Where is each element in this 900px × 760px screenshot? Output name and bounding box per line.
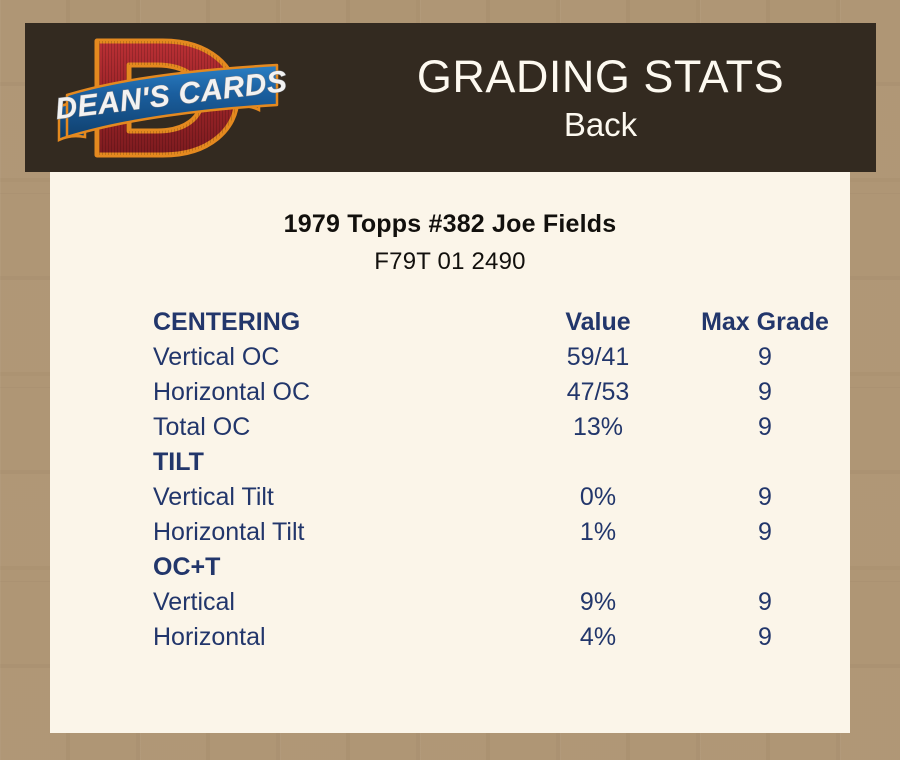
table-row: Horizontal4%9 [153,620,847,655]
stat-max-grade: 9 [683,585,847,620]
stat-value: 13% [513,410,683,445]
card-serial-number: F79T 01 2490 [50,248,850,276]
table-row: Vertical Tilt0%9 [153,480,847,515]
stat-label: Vertical OC [153,340,513,375]
column-header-centering: CENTERING [153,305,513,340]
table-section-row: OC+T [153,550,847,585]
stat-value [513,550,683,585]
stat-max-grade: 9 [683,410,847,445]
stat-value: 0% [513,480,683,515]
grading-stats-page: DEAN'S CARDS GRADING STATS Back 1979 Top… [0,0,900,760]
stat-max-grade: 9 [683,515,847,550]
table-row: Total OC13%9 [153,410,847,445]
stat-label: Horizontal Tilt [153,515,513,550]
table-section-row: TILT [153,445,847,480]
page-title: GRADING STATS [417,51,784,103]
stat-max-grade [683,445,847,480]
stat-value [513,445,683,480]
table-row: Horizontal OC47/539 [153,375,847,410]
grading-stats-body: CENTERINGValueMax GradeVertical OC59/419… [153,305,847,655]
stat-value: 4% [513,620,683,655]
stat-label: Vertical [153,585,513,620]
stat-label: Horizontal OC [153,375,513,410]
stat-label: Total OC [153,410,513,445]
table-row: Vertical9%9 [153,585,847,620]
table-row: Horizontal Tilt1%9 [153,515,847,550]
stat-label: Vertical Tilt [153,480,513,515]
section-label: OC+T [153,550,513,585]
table-row: Vertical OC59/419 [153,340,847,375]
stat-max-grade: 9 [683,480,847,515]
stat-max-grade [683,550,847,585]
deans-cards-logo[interactable]: DEAN'S CARDS [45,29,315,167]
card-heading: 1979 Topps #382 Joe Fields [50,210,850,239]
header-title-group: GRADING STATS Back [325,23,876,172]
content-panel: 1979 Topps #382 Joe Fields F79T 01 2490 … [50,172,850,733]
column-header-value: Value [513,305,683,340]
section-label: TILT [153,445,513,480]
grading-stats-table: CENTERINGValueMax GradeVertical OC59/419… [153,305,847,655]
stat-value: 1% [513,515,683,550]
stat-max-grade: 9 [683,620,847,655]
stat-max-grade: 9 [683,375,847,410]
stat-label: Horizontal [153,620,513,655]
stat-value: 9% [513,585,683,620]
stat-value: 47/53 [513,375,683,410]
page-subtitle: Back [564,105,637,145]
header-bar: DEAN'S CARDS GRADING STATS Back [25,23,876,172]
table-header-row: CENTERINGValueMax Grade [153,305,847,340]
column-header-max-grade: Max Grade [683,305,847,340]
stat-value: 59/41 [513,340,683,375]
stat-max-grade: 9 [683,340,847,375]
